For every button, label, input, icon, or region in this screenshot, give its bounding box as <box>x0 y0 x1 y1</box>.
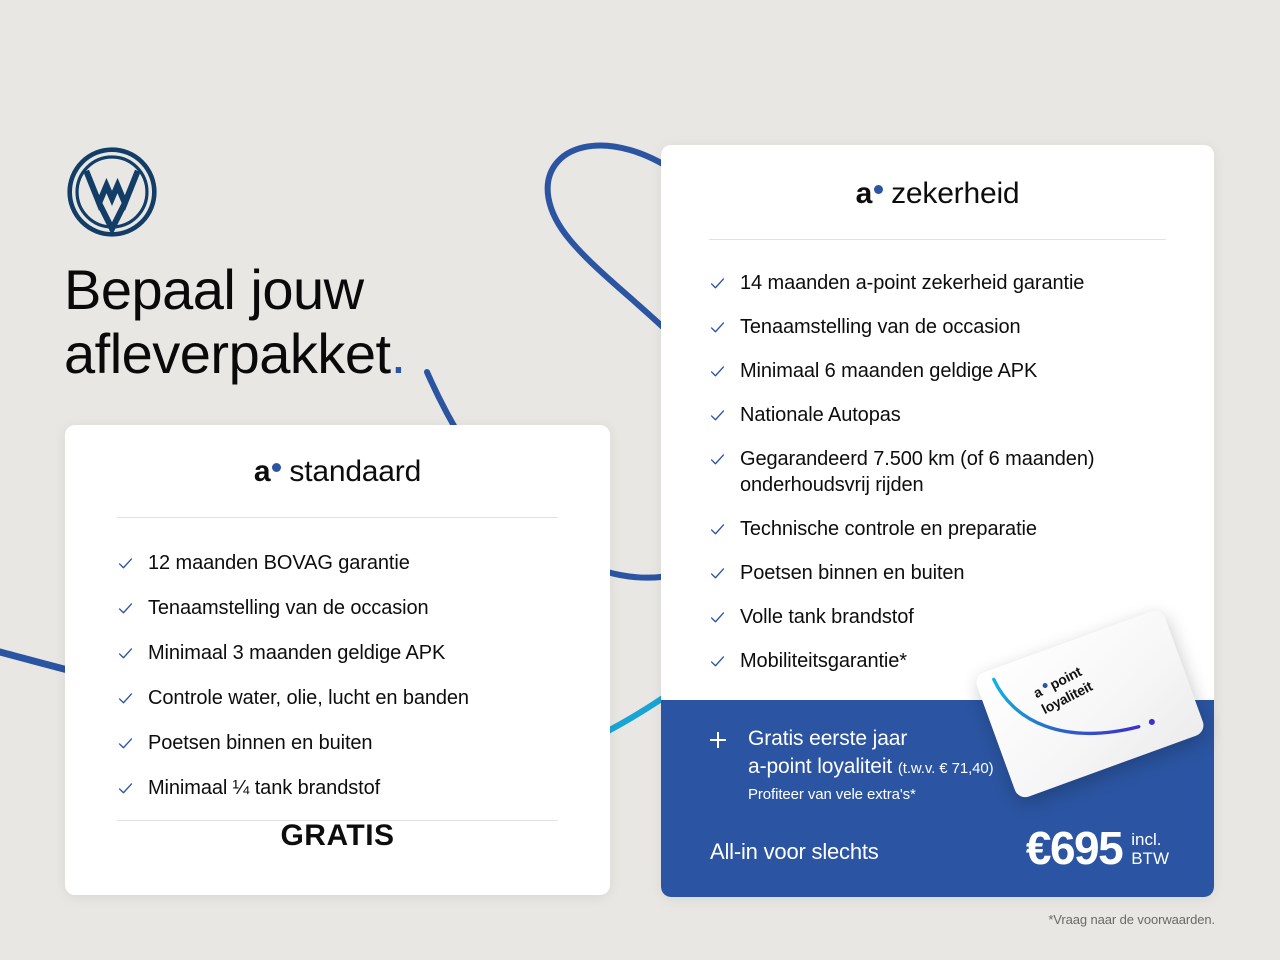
list-item: Technische controle en preparatie <box>709 516 1178 542</box>
list-item-label: 12 maanden BOVAG garantie <box>148 550 410 576</box>
list-item: Controle water, olie, lucht en banden <box>117 685 610 711</box>
check-icon <box>709 407 726 424</box>
list-item-label: Gegarandeerd 7.500 km (of 6 maanden) ond… <box>740 446 1178 498</box>
list-item-label: Controle water, olie, lucht en banden <box>148 685 469 711</box>
check-icon <box>117 600 134 617</box>
card-title-standaard: astandaard <box>65 425 610 489</box>
check-icon <box>117 690 134 707</box>
list-item: Tenaamstelling van de occasion <box>117 595 610 621</box>
plus-icon <box>710 732 726 748</box>
list-item: Gegarandeerd 7.500 km (of 6 maanden) ond… <box>709 446 1178 498</box>
list-item: 12 maanden BOVAG garantie <box>117 550 610 576</box>
price-suffix-line2: BTW <box>1131 849 1169 869</box>
bullet-dot-icon <box>272 463 281 472</box>
promo-canvas: Bepaal jouw afleverpakket. astandaard 12… <box>0 0 1280 960</box>
list-item: Poetsen binnen en buiten <box>117 730 610 756</box>
list-item-label: Minimaal 3 maanden geldige APK <box>148 640 445 666</box>
list-item-label: Poetsen binnen en buiten <box>148 730 372 756</box>
divider-top <box>709 239 1166 240</box>
card-title-a: a <box>254 455 271 488</box>
feature-list-zekerheid: 14 maanden a-point zekerheid garantie Te… <box>709 270 1214 674</box>
footnote: *Vraag naar de voorwaarden. <box>1048 912 1215 927</box>
price-amount: €695 <box>1026 825 1122 871</box>
list-item: Tenaamstelling van de occasion <box>709 314 1178 340</box>
list-item-label: Mobiliteitsgarantie* <box>740 648 907 674</box>
divider-top <box>117 517 558 518</box>
check-icon <box>709 319 726 336</box>
price-suffix: incl. BTW <box>1131 830 1169 869</box>
volkswagen-logo-icon <box>66 146 158 238</box>
bullet-dot-icon <box>1041 682 1048 689</box>
check-icon <box>709 565 726 582</box>
check-icon <box>709 521 726 538</box>
check-icon <box>709 653 726 670</box>
list-item: Poetsen binnen en buiten <box>709 560 1178 586</box>
list-item-label: Tenaamstelling van de occasion <box>148 595 429 621</box>
list-item-label: Minimaal 6 maanden geldige APK <box>740 358 1037 384</box>
bonus-subtext: Profiteer van vele extra's* <box>748 785 994 805</box>
bonus-line-2: a-point loyaliteit <box>748 755 892 778</box>
bonus-value-note: (t.w.v. € 71,40) <box>898 760 994 777</box>
list-item: Minimaal 3 maanden geldige APK <box>117 640 610 666</box>
card-title-zekerheid: azekerheid <box>661 145 1214 211</box>
card-title-name: zekerheid <box>891 177 1019 210</box>
package-card-standaard[interactable]: astandaard 12 maanden BOVAG garantie Ten… <box>65 425 610 895</box>
list-item-label: Tenaamstelling van de occasion <box>740 314 1021 340</box>
list-item: 14 maanden a-point zekerheid garantie <box>709 270 1178 296</box>
check-icon <box>117 735 134 752</box>
page-title-line2: afleverpakket <box>64 322 391 385</box>
check-icon <box>117 555 134 572</box>
list-item-label: Nationale Autopas <box>740 402 901 428</box>
page-title: Bepaal jouw afleverpakket. <box>64 258 584 386</box>
price-standaard: GRATIS <box>65 819 610 853</box>
page-title-line1: Bepaal jouw <box>64 258 364 321</box>
page-title-dot: . <box>391 322 406 385</box>
card-title-name: standaard <box>289 455 421 488</box>
list-item-label: Minimaal ¼ tank brandstof <box>148 775 380 801</box>
check-icon <box>709 609 726 626</box>
package-card-zekerheid[interactable]: azekerheid 14 maanden a-point zekerheid … <box>661 145 1214 897</box>
list-item: Minimaal 6 maanden geldige APK <box>709 358 1178 384</box>
bonus-line-1: Gratis eerste jaar <box>748 725 994 753</box>
list-item-label: Volle tank brandstof <box>740 604 914 630</box>
list-item-label: 14 maanden a-point zekerheid garantie <box>740 270 1084 296</box>
list-item-label: Poetsen binnen en buiten <box>740 560 964 586</box>
check-icon <box>709 363 726 380</box>
price-row: All-in voor slechts €695 incl. BTW <box>710 825 1169 871</box>
bullet-dot-icon <box>874 185 883 194</box>
card-title-a: a <box>856 177 873 210</box>
check-icon <box>709 451 726 468</box>
list-item-label: Technische controle en preparatie <box>740 516 1037 542</box>
price-suffix-line1: incl. <box>1131 830 1169 850</box>
feature-list-standaard: 12 maanden BOVAG garantie Tenaamstelling… <box>117 550 610 801</box>
check-icon <box>117 780 134 797</box>
check-icon <box>709 275 726 292</box>
price-label: All-in voor slechts <box>710 839 879 871</box>
check-icon <box>117 645 134 662</box>
list-item: Nationale Autopas <box>709 402 1178 428</box>
list-item: Minimaal ¼ tank brandstof <box>117 775 610 801</box>
